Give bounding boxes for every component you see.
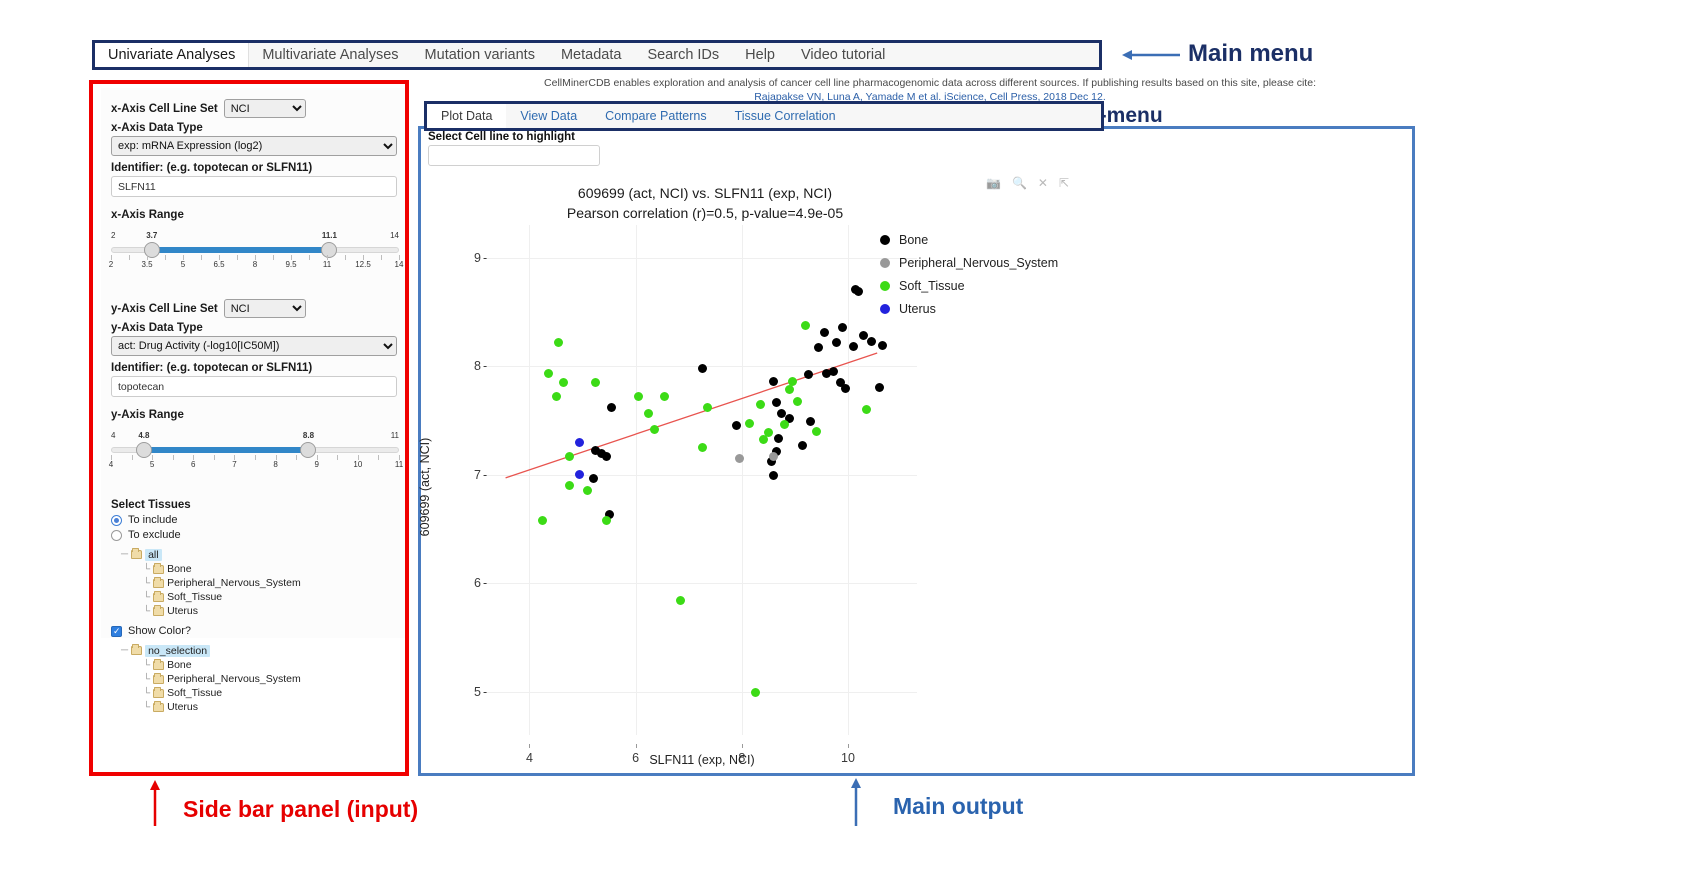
folder-icon: [153, 565, 164, 574]
data-point[interactable]: [607, 403, 616, 412]
tree-include-item-1[interactable]: └Peripheral_Nervous_System: [143, 576, 395, 590]
main-menu-item-0[interactable]: Univariate Analyses: [95, 43, 249, 67]
y-range-tick-5: 9: [314, 460, 318, 469]
main-menu-item-5[interactable]: Help: [732, 43, 788, 67]
folder-icon: [131, 550, 142, 559]
tree-expander-icon[interactable]: ─: [121, 645, 128, 656]
show-color-checkbox[interactable]: Show Color?: [111, 625, 395, 637]
annotation-main-menu: Main menu: [1188, 40, 1313, 68]
legend-color-swatch: [880, 304, 890, 314]
data-point[interactable]: [820, 328, 829, 337]
tree-include-item-label-2: Soft_Tissue: [167, 591, 222, 603]
legend-label-3: Uterus: [899, 302, 936, 316]
arrow-sidebar: [144, 778, 166, 828]
tree-color-item-1[interactable]: └Peripheral_Nervous_System: [143, 672, 395, 686]
x-cellline-label: x-Axis Cell Line Set: [111, 103, 218, 115]
annotation-main-output: Main output: [893, 793, 1023, 820]
checkbox-icon: [111, 626, 122, 637]
tree-branch-icon: └: [143, 564, 150, 575]
y-range-tick-6: 10: [353, 460, 362, 469]
x-range-tick-4: 8: [253, 260, 257, 269]
tree-branch-icon: └: [143, 688, 150, 699]
tree-color-root[interactable]: ─no_selection: [121, 643, 395, 658]
sub-menu-item-2[interactable]: Compare Patterns: [591, 104, 720, 128]
tree-include-root[interactable]: ─all: [121, 547, 395, 562]
data-point[interactable]: [854, 287, 863, 296]
highlight-label: Select Cell line to highlight: [428, 131, 575, 143]
main-menu[interactable]: Univariate AnalysesMultivariate Analyses…: [92, 40, 1102, 70]
tree-include-item-label-3: Uterus: [167, 605, 198, 617]
data-point[interactable]: [769, 452, 778, 461]
x-range-low-value: 3.7: [146, 231, 157, 240]
sub-menu-item-3[interactable]: Tissue Correlation: [721, 104, 850, 128]
sub-menu[interactable]: Plot DataView DataCompare PatternsTissue…: [424, 101, 1104, 131]
sub-menu-item-1[interactable]: View Data: [506, 104, 591, 128]
folder-icon: [153, 607, 164, 616]
data-point[interactable]: [867, 337, 876, 346]
data-point[interactable]: [565, 481, 574, 490]
radio-to-include[interactable]: To include: [111, 514, 395, 526]
data-point[interactable]: [538, 516, 547, 525]
trendline: [487, 225, 917, 735]
tree-include-item-label-1: Peripheral_Nervous_System: [167, 577, 301, 589]
tree-include-item-label-0: Bone: [167, 563, 192, 575]
sidebar-panel: x-Axis Cell Line Set NCI x-Axis Data Typ…: [89, 80, 409, 776]
x-range-tick-2: 5: [181, 260, 185, 269]
tree-include-root-label: all: [145, 549, 162, 561]
y-range-label: y-Axis Range: [111, 409, 395, 421]
y-range-tick-1: 5: [150, 460, 154, 469]
data-point[interactable]: [698, 443, 707, 452]
folder-icon: [153, 689, 164, 698]
y-datatype-select[interactable]: act: Drug Activity (-log10[IC50M]): [111, 336, 397, 356]
main-menu-item-6[interactable]: Video tutorial: [788, 43, 898, 67]
y-range-tick-7: 11: [395, 460, 403, 469]
y-tick-label-4: 9: [474, 251, 481, 265]
x-tick-mark-3: [848, 744, 849, 748]
arrow-main-output: [845, 776, 867, 828]
data-point[interactable]: [804, 370, 813, 379]
y-tick-label-0: 5: [474, 685, 481, 699]
x-range-tick-5: 9.5: [285, 260, 296, 269]
data-point[interactable]: [829, 367, 838, 376]
data-point[interactable]: [862, 405, 871, 414]
tree-color-root-label: no_selection: [145, 645, 210, 657]
x-range-tick-7: 12.5: [355, 260, 371, 269]
x-tick-mark-0: [529, 744, 530, 748]
legend-label-1: Peripheral_Nervous_System: [899, 256, 1058, 270]
tree-color-item-0[interactable]: └Bone: [143, 658, 395, 672]
tree-branch-icon: └: [143, 606, 150, 617]
legend-item-3[interactable]: Uterus: [880, 299, 1058, 318]
data-point[interactable]: [788, 377, 797, 386]
sidebar-inner: x-Axis Cell Line Set NCI x-Axis Data Typ…: [101, 88, 405, 638]
tree-branch-icon: └: [143, 702, 150, 713]
y-cellline-row: y-Axis Cell Line Set NCI: [111, 299, 395, 318]
tree-color-item-3[interactable]: └Uterus: [143, 700, 395, 714]
main-menu-item-4[interactable]: Search IDs: [634, 43, 732, 67]
data-point[interactable]: [878, 341, 887, 350]
autoscale-icon[interactable]: ⇱: [1059, 176, 1069, 190]
tree-color-item-label-1: Peripheral_Nervous_System: [167, 673, 301, 685]
tree-color-item-label-0: Bone: [167, 659, 192, 671]
y-tick-label-1: 6: [474, 576, 481, 590]
tree-color-item-2[interactable]: └Soft_Tissue: [143, 686, 395, 700]
folder-icon: [153, 579, 164, 588]
tree-branch-icon: └: [143, 592, 150, 603]
x-range-slider[interactable]: 2143.711.123.556.589.51112.514: [111, 233, 399, 273]
tree-branch-icon: └: [143, 674, 150, 685]
tree-include-item-0[interactable]: └Bone: [143, 562, 395, 576]
data-point[interactable]: [812, 427, 821, 436]
main-menu-item-1[interactable]: Multivariate Analyses: [249, 43, 411, 67]
plot-toolbar[interactable]: 📷 🔍 ✕ ⇱: [986, 176, 1069, 190]
folder-icon: [153, 593, 164, 602]
plot-title-sub: Pearson correlation (r)=0.5, p-value=4.9…: [425, 203, 985, 223]
data-point[interactable]: [575, 438, 584, 447]
x-range-tick-1: 3.5: [141, 260, 152, 269]
legend-item-2[interactable]: Soft_Tissue: [880, 276, 1058, 295]
zoom-icon[interactable]: 🔍: [1012, 176, 1027, 190]
y-range-max: 11: [391, 431, 399, 440]
y-range-min: 4: [111, 431, 115, 440]
y-range-tick-2: 6: [191, 460, 195, 469]
x-tick-mark-1: [636, 744, 637, 748]
y-datatype-label: y-Axis Data Type: [111, 322, 395, 334]
radio-include-icon: [111, 515, 122, 526]
radio-exclude-icon: [111, 530, 122, 541]
y-identifier-label: Identifier: (e.g. topotecan or SLFN11): [111, 362, 395, 374]
x-range-tick-8: 14: [395, 260, 404, 269]
folder-icon: [131, 646, 142, 655]
data-point[interactable]: [735, 454, 744, 463]
tree-branch-icon: └: [143, 578, 150, 589]
main-menu-item-3[interactable]: Metadata: [548, 43, 634, 67]
select-tissues-label: Select Tissues: [111, 499, 395, 511]
radio-exclude-label: To exclude: [128, 529, 181, 541]
tissue-tree-color[interactable]: ─no_selection└Bone└Peripheral_Nervous_Sy…: [121, 643, 395, 714]
legend-color-swatch: [880, 258, 890, 268]
data-point[interactable]: [832, 338, 841, 347]
data-point[interactable]: [703, 403, 712, 412]
y-tick-label-2: 7: [474, 468, 481, 482]
y-range-tick-4: 8: [273, 460, 277, 469]
x-identifier-label: Identifier: (e.g. topotecan or SLFN11): [111, 162, 395, 174]
x-range-tick-3: 6.5: [213, 260, 224, 269]
x-range-ticklabels: 23.556.589.51112.514: [111, 260, 399, 272]
folder-icon: [153, 703, 164, 712]
tree-include-item-3[interactable]: └Uterus: [143, 604, 395, 618]
data-point[interactable]: [544, 369, 553, 378]
main-menu-item-2[interactable]: Mutation variants: [412, 43, 548, 67]
legend-color-swatch: [880, 235, 890, 245]
x-range-min: 2: [111, 231, 115, 240]
x-range-label: x-Axis Range: [111, 209, 395, 221]
highlight-cellline-input[interactable]: [428, 145, 600, 166]
radio-to-exclude[interactable]: To exclude: [111, 529, 395, 541]
data-point[interactable]: [849, 342, 858, 351]
y-range-fill: [144, 447, 309, 453]
y-tick-label-3: 8: [474, 359, 481, 373]
y-range-tick-3: 7: [232, 460, 236, 469]
y-range-ticklabels: 4567891011: [111, 460, 399, 472]
plot-title-main: 609699 (act, NCI) vs. SLFN11 (exp, NCI): [425, 183, 985, 203]
legend-label-2: Soft_Tissue: [899, 279, 965, 293]
data-point[interactable]: [756, 400, 765, 409]
data-point[interactable]: [554, 338, 563, 347]
y-range-tick-0: 4: [109, 460, 113, 469]
data-point[interactable]: [698, 364, 707, 373]
tree-color-item-label-3: Uterus: [167, 701, 198, 713]
legend-item-1[interactable]: Peripheral_Nervous_System: [880, 253, 1058, 272]
camera-icon[interactable]: 📷: [986, 176, 1001, 190]
tree-expander-icon[interactable]: ─: [121, 549, 128, 560]
show-color-label: Show Color?: [128, 625, 191, 637]
plot-title: 609699 (act, NCI) vs. SLFN11 (exp, NCI) …: [425, 183, 985, 224]
x-tick-mark-2: [742, 744, 743, 748]
tissue-tree-include[interactable]: ─all└Bone└Peripheral_Nervous_System└Soft…: [121, 547, 395, 618]
citation-line-1: CellMinerCDB enables exploration and ana…: [430, 76, 1430, 90]
data-point[interactable]: [764, 428, 773, 437]
tree-color-item-label-2: Soft_Tissue: [167, 687, 222, 699]
reset-axes-icon[interactable]: ✕: [1038, 176, 1048, 190]
x-range-fill: [152, 247, 330, 253]
x-datatype-select[interactable]: exp: mRNA Expression (log2): [111, 136, 397, 156]
tree-include-item-2[interactable]: └Soft_Tissue: [143, 590, 395, 604]
data-point[interactable]: [780, 420, 789, 429]
data-point[interactable]: [565, 452, 574, 461]
data-point[interactable]: [650, 425, 659, 434]
plot-area[interactable]: 5678946810: [487, 225, 917, 735]
y-range-low-value: 4.8: [138, 431, 149, 440]
sub-menu-item-0[interactable]: Plot Data: [427, 104, 506, 128]
x-identifier-input[interactable]: [111, 176, 397, 197]
x-datatype-label: x-Axis Data Type: [111, 122, 395, 134]
arrow-main-menu: [1120, 44, 1182, 66]
x-cellline-row: x-Axis Cell Line Set NCI: [111, 99, 395, 118]
legend-item-0[interactable]: Bone: [880, 230, 1058, 249]
x-range-tick-0: 2: [109, 260, 113, 269]
legend-color-swatch: [880, 281, 890, 291]
data-point[interactable]: [634, 392, 643, 401]
x-range-high-value: 11.1: [322, 231, 337, 240]
data-point[interactable]: [552, 392, 561, 401]
annotation-sidebar: Side bar panel (input): [183, 796, 418, 823]
tree-branch-icon: └: [143, 660, 150, 671]
legend-label-0: Bone: [899, 233, 928, 247]
x-axis-title: SLFN11 (exp, NCI): [487, 753, 917, 767]
data-point[interactable]: [602, 516, 611, 525]
folder-icon: [153, 675, 164, 684]
x-cellline-select[interactable]: NCI: [224, 99, 306, 118]
x-range-tick-6: 11: [323, 260, 331, 269]
y-range-high-value: 8.8: [303, 431, 314, 440]
y-range-slider[interactable]: 4114.88.84567891011: [111, 433, 399, 473]
y-cellline-label: y-Axis Cell Line Set: [111, 303, 218, 315]
x-range-max: 14: [390, 231, 399, 240]
data-point[interactable]: [751, 688, 760, 697]
radio-include-label: To include: [128, 514, 178, 526]
data-point[interactable]: [838, 323, 847, 332]
y-cellline-select[interactable]: NCI: [224, 299, 306, 318]
data-point[interactable]: [769, 377, 778, 386]
y-axis-title: 609699 (act, NCI): [418, 438, 432, 537]
folder-icon: [153, 661, 164, 670]
y-identifier-input[interactable]: [111, 376, 397, 397]
plot-legend: BonePeripheral_Nervous_SystemSoft_Tissue…: [880, 230, 1058, 322]
data-point[interactable]: [602, 452, 611, 461]
